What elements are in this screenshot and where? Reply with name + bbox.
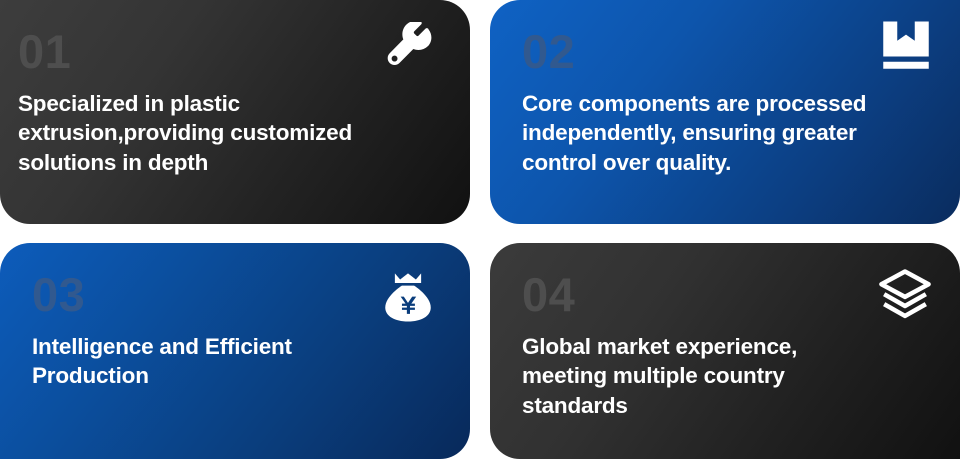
- card-number: 01: [18, 28, 444, 75]
- layers-stack-icon: [876, 267, 934, 325]
- wrench-icon: [384, 22, 436, 74]
- book-bookmark-icon: [878, 18, 934, 74]
- feature-card-01[interactable]: 01 Specialized in plastic extrusion,prov…: [0, 0, 470, 224]
- feature-card-grid: 01 Specialized in plastic extrusion,prov…: [0, 0, 960, 459]
- card-title: Specialized in plastic extrusion,providi…: [18, 89, 438, 177]
- feature-card-03[interactable]: 03 Intelligence and Efficient Production: [0, 243, 470, 459]
- feature-card-04[interactable]: 04 Global market experience, meeting mul…: [490, 243, 960, 459]
- money-bag-yen-icon: [380, 269, 436, 325]
- card-title: Intelligence and Efficient Production: [32, 332, 444, 391]
- card-number: 02: [522, 28, 934, 75]
- card-number: 04: [522, 271, 934, 318]
- card-title: Global market experience, meeting multip…: [522, 332, 934, 420]
- card-title: Core components are processed independen…: [522, 89, 934, 177]
- feature-card-02[interactable]: 02 Core components are processed indepen…: [490, 0, 960, 224]
